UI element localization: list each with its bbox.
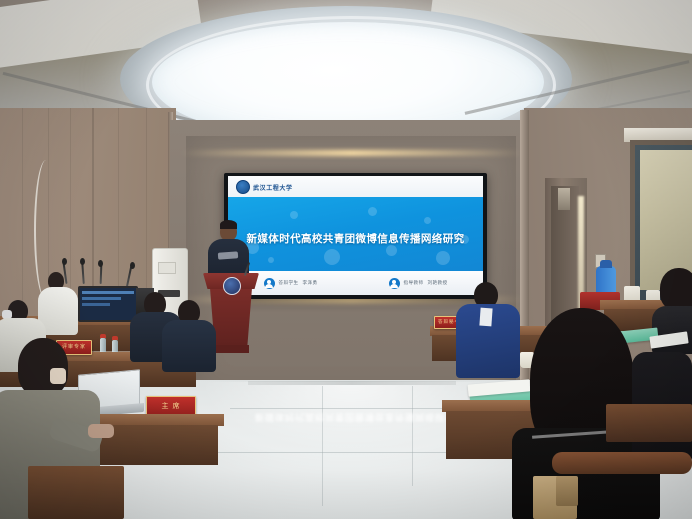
slide-footer: 答辩学生 李泽勇 指导教师 刘艳教授	[228, 271, 483, 295]
attendee-hair	[660, 268, 692, 310]
presenter-hair	[220, 220, 237, 229]
bottle-cap	[112, 336, 118, 340]
ac-control-panel[interactable]	[158, 262, 176, 274]
microphone-head-icon	[98, 260, 103, 267]
cove-light-top	[180, 150, 524, 156]
microphone-head-icon	[130, 262, 135, 269]
chair-arm	[552, 452, 692, 474]
chair-back	[28, 466, 124, 519]
university-logo: 武汉工程大学	[236, 180, 293, 194]
slide-title: 新媒体时代高校共青团微博信息传播网络研究	[228, 231, 483, 246]
presentation-screen[interactable]: 武汉工程大学 新媒体时代高校共青团微博信息传播网络研究 答辩学生 李泽勇 指导	[228, 176, 483, 295]
university-name: 武汉工程大学	[253, 183, 293, 192]
advisor-role: 指导教师	[404, 280, 424, 286]
shirt-collar	[479, 308, 492, 327]
floor-reflection-text: 新媒体时代高校共青团微博信息传播网络研究	[250, 398, 460, 424]
attendee-hair	[18, 338, 68, 396]
conference-room-photo: 武汉工程大学 新媒体时代高校共青团微博信息传播网络研究 答辩学生 李泽勇 指导	[0, 0, 692, 519]
attendee-torso	[162, 320, 216, 372]
stage-edge	[248, 381, 456, 385]
attendee-right-1	[456, 282, 520, 374]
podium-body	[210, 288, 252, 351]
presenter-name: 李泽勇	[303, 280, 318, 286]
chair-back	[606, 404, 692, 442]
presenter-role: 答辩学生	[279, 280, 299, 286]
hand	[88, 424, 114, 438]
person-icon	[389, 278, 400, 289]
shirt-logo	[218, 251, 238, 259]
av-monitor[interactable]	[78, 286, 138, 322]
handbag-flap	[556, 476, 578, 506]
podium-base	[213, 345, 249, 353]
slide-header: 武汉工程大学	[228, 176, 483, 197]
thermos-cap	[600, 260, 612, 268]
slide-footer-advisor: 指导教师 刘艳教授	[389, 278, 448, 289]
slide-footer-presenter: 答辩学生 李泽勇	[264, 278, 318, 289]
university-logo-icon	[236, 180, 250, 194]
nameplate-text: 主 席	[147, 401, 195, 411]
slide-title-band: 新媒体时代高校共青团微博信息传播网络研究	[228, 197, 483, 271]
face-mask	[50, 368, 66, 384]
attendee-left-1b	[160, 300, 216, 370]
microphone-head-icon	[62, 258, 67, 265]
university-emblem-icon	[223, 277, 241, 295]
advisor-name: 刘艳教授	[428, 280, 448, 286]
person-icon	[264, 278, 275, 289]
door-plate-icon	[558, 188, 570, 210]
microphone-head-icon	[80, 258, 85, 265]
